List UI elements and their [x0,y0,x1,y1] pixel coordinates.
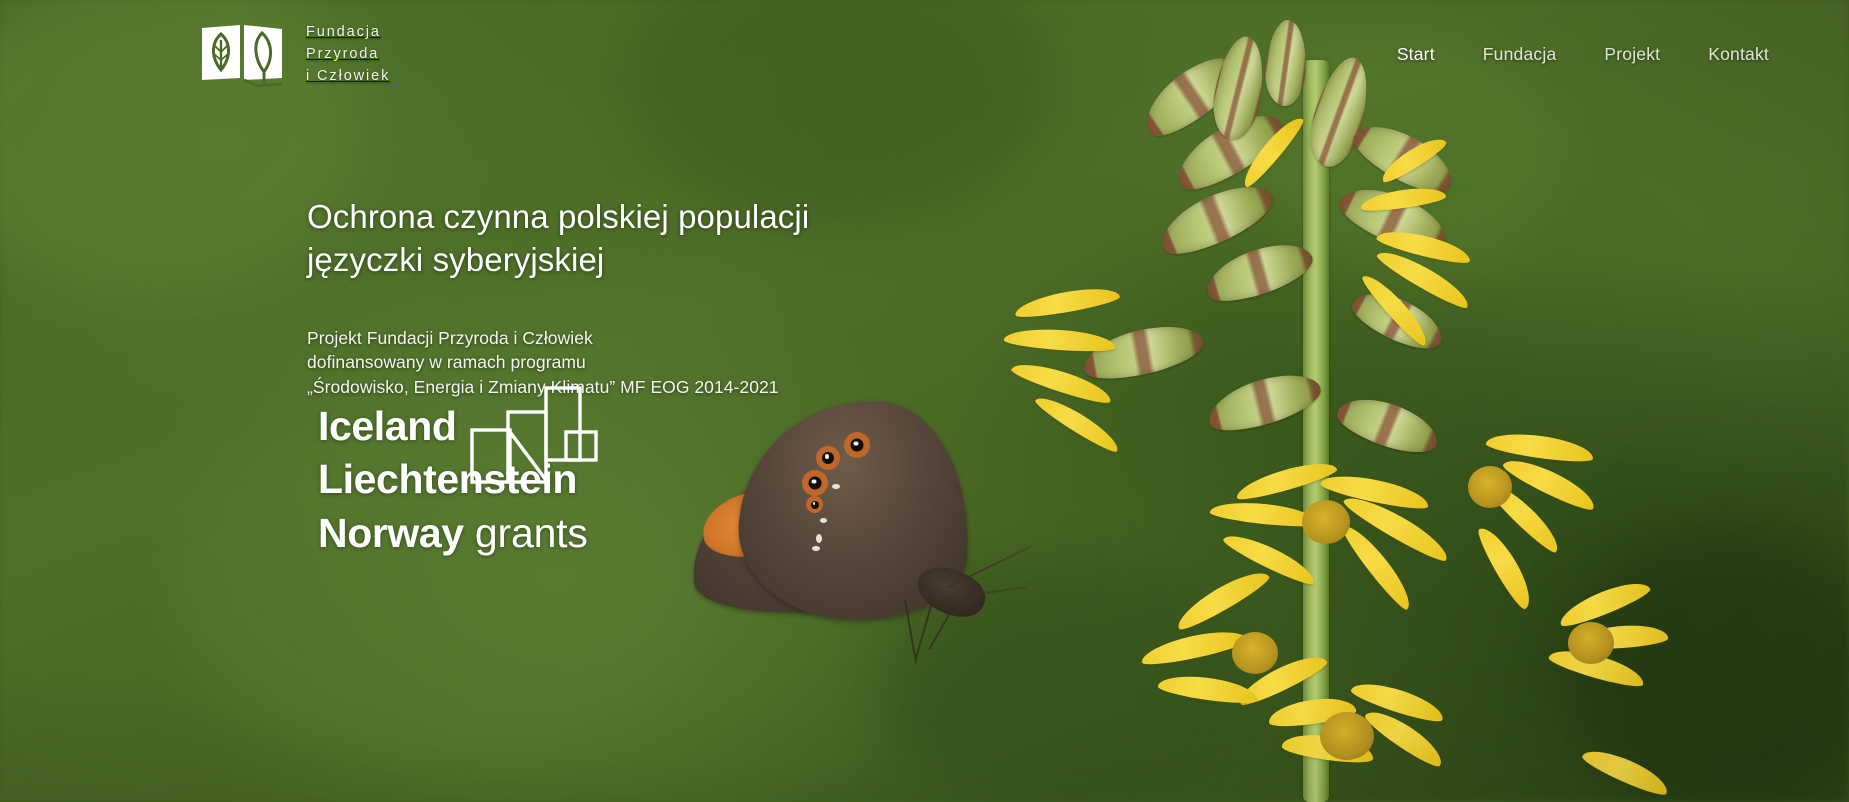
site-header: Fundacja Przyroda i Człowiek Start Funda… [0,0,1849,108]
eea-norway-grants-logo: Iceland Liechtenstein Norway grants [318,400,738,560]
hero-subtitle-line-2: dofinansowany w ramach programu [307,352,586,372]
grants-line-norway-bold: Norway [318,510,464,556]
hero-copy-block: Ochrona czynna polskiej populacji języcz… [307,196,1007,399]
brand-name-line-1: Fundacja [306,24,381,40]
hero-vignette-overlay [0,0,1849,802]
nav-item-start[interactable]: Start [1373,36,1459,73]
brand-name-line-3: i Człowiek [306,68,390,84]
brand-name-line-2: Przyroda [306,46,379,62]
nav-item-projekt[interactable]: Projekt [1580,36,1684,73]
main-navigation: Start Fundacja Projekt Kontakt [1373,36,1793,73]
grants-line-norway: Norway grants [318,507,738,560]
brand-name: Fundacja Przyroda i Człowiek [306,21,390,87]
hero-subtitle: Projekt Fundacji Przyroda i Człowiek dof… [307,326,1007,400]
brand-logo-link[interactable]: Fundacja Przyroda i Człowiek [198,20,390,88]
hero-title-line-1: Ochrona czynna polskiej populacji [307,198,809,235]
hero-banner: Fundacja Przyroda i Człowiek Start Funda… [0,0,1849,802]
nav-item-fundacja[interactable]: Fundacja [1459,36,1581,73]
grants-line-grants-light: grants [464,510,588,556]
eea-norway-grants-blocks-icon [470,386,598,491]
nav-item-kontakt[interactable]: Kontakt [1684,36,1793,73]
leaf-and-human-panels-icon [198,20,290,88]
hero-title: Ochrona czynna polskiej populacji języcz… [307,196,1007,282]
hero-subtitle-line-1: Projekt Fundacji Przyroda i Człowiek [307,328,593,348]
hero-title-line-2: języczki syberyjskiej [307,241,604,278]
